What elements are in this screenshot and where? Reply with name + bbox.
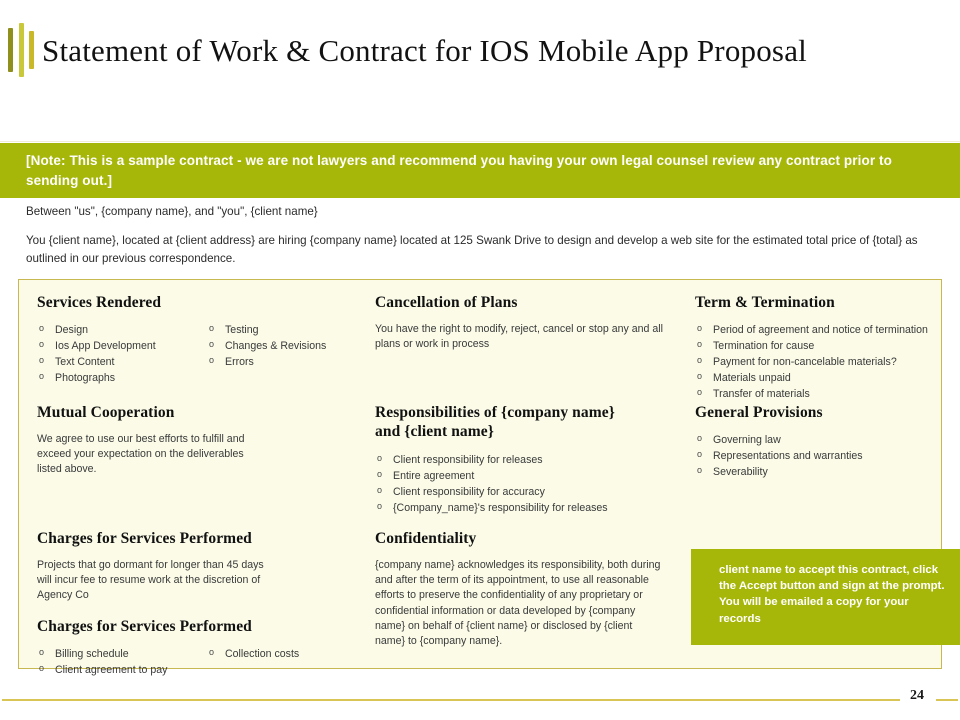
section-general-provisions: General Provisions Governing law Represe… [695,404,945,480]
slide-header: Statement of Work & Contract for IOS Mob… [0,0,960,100]
list-item: Collection costs [207,646,377,662]
note-banner: [Note: This is a sample contract - we ar… [0,143,960,198]
list-item: Ios App Development [37,338,207,354]
section-title: Mutual Cooperation [37,404,267,423]
list-item: Changes & Revisions [207,338,377,354]
section-title: Cancellation of Plans [375,294,675,313]
section-confidentiality: Confidentiality {company name} acknowled… [375,530,665,650]
intro-paragraph-1: Between "us", {company name}, and "you",… [26,203,926,220]
contract-content-box: Services Rendered Design Ios App Develop… [18,279,942,669]
footer-rule-right [936,699,958,701]
section-title: Charges for Services Performed [37,530,277,549]
list-item: Entire agreement [375,468,675,484]
section-title: Responsibilities of {company name} and {… [375,404,675,441]
accept-contract-callout: client name to accept this contract, cli… [691,549,960,645]
list-item: Materials unpaid [695,370,945,386]
list-item: Design [37,322,207,338]
list-item: Transfer of materials [695,386,945,402]
charges-list-right: Collection costs [207,646,377,678]
section-responsibilities: Responsibilities of {company name} and {… [375,404,675,517]
charges-list-left: Billing schedule Client agreement to pay [37,646,207,678]
section-body: {company name} acknowledges its responsi… [375,558,665,650]
services-rendered-list-left: Design Ios App Development Text Content … [37,322,207,386]
section-charges-for-services-performed-text: Charges for Services Performed Projects … [37,530,277,604]
list-item: Text Content [37,354,207,370]
section-title: Services Rendered [37,294,377,313]
list-item: Termination for cause [695,338,945,354]
page-number: 24 [901,688,933,704]
list-item: Severability [695,464,945,480]
three-bars-icon [8,22,34,78]
list-item: {Company_name}'s responsibility for rele… [375,500,675,516]
list-item: Photographs [37,370,207,386]
section-term-and-termination: Term & Termination Period of agreement a… [695,294,945,402]
intro-block: Between "us", {company name}, and "you",… [26,203,926,279]
header-divider [0,141,960,142]
general-provisions-list: Governing law Representations and warran… [695,432,945,480]
list-item: Client agreement to pay [37,662,207,678]
list-item: Client responsibility for accuracy [375,484,675,500]
section-charges-for-services-performed-list: Charges for Services Performed Billing s… [37,618,377,678]
list-item: Errors [207,354,377,370]
responsibilities-list: Client responsibility for releases Entir… [375,452,675,516]
section-cancellation-of-plans: Cancellation of Plans You have the right… [375,294,675,352]
page-title: Statement of Work & Contract for IOS Mob… [42,35,807,66]
section-title-line-2: and {client name} [375,423,494,440]
term-termination-list: Period of agreement and notice of termin… [695,322,945,402]
section-title: General Provisions [695,404,945,423]
intro-paragraph-2: You {client name}, located at {client ad… [26,232,926,267]
list-item: Testing [207,322,377,338]
section-mutual-cooperation: Mutual Cooperation We agree to use our b… [37,404,267,478]
list-item: Period of agreement and notice of termin… [695,322,945,338]
footer-rule-left [2,699,900,701]
section-title: Term & Termination [695,294,945,313]
list-item: Payment for non-cancelable materials? [695,354,945,370]
section-body: We agree to use our best efforts to fulf… [37,432,267,478]
section-title-line-1: Responsibilities of {company name} [375,404,615,421]
section-body: You have the right to modify, reject, ca… [375,322,675,353]
list-item: Client responsibility for releases [375,452,675,468]
list-item: Representations and warranties [695,448,945,464]
section-services-rendered: Services Rendered Design Ios App Develop… [37,294,377,386]
services-rendered-list-right: Testing Changes & Revisions Errors [207,322,377,386]
note-banner-text: [Note: This is a sample contract - we ar… [26,151,934,190]
section-title: Charges for Services Performed [37,618,377,637]
section-title: Confidentiality [375,530,665,549]
list-item: Billing schedule [37,646,207,662]
accept-contract-callout-text: client name to accept this contract, cli… [719,562,949,627]
list-item: Governing law [695,432,945,448]
section-body: Projects that go dormant for longer than… [37,558,277,604]
